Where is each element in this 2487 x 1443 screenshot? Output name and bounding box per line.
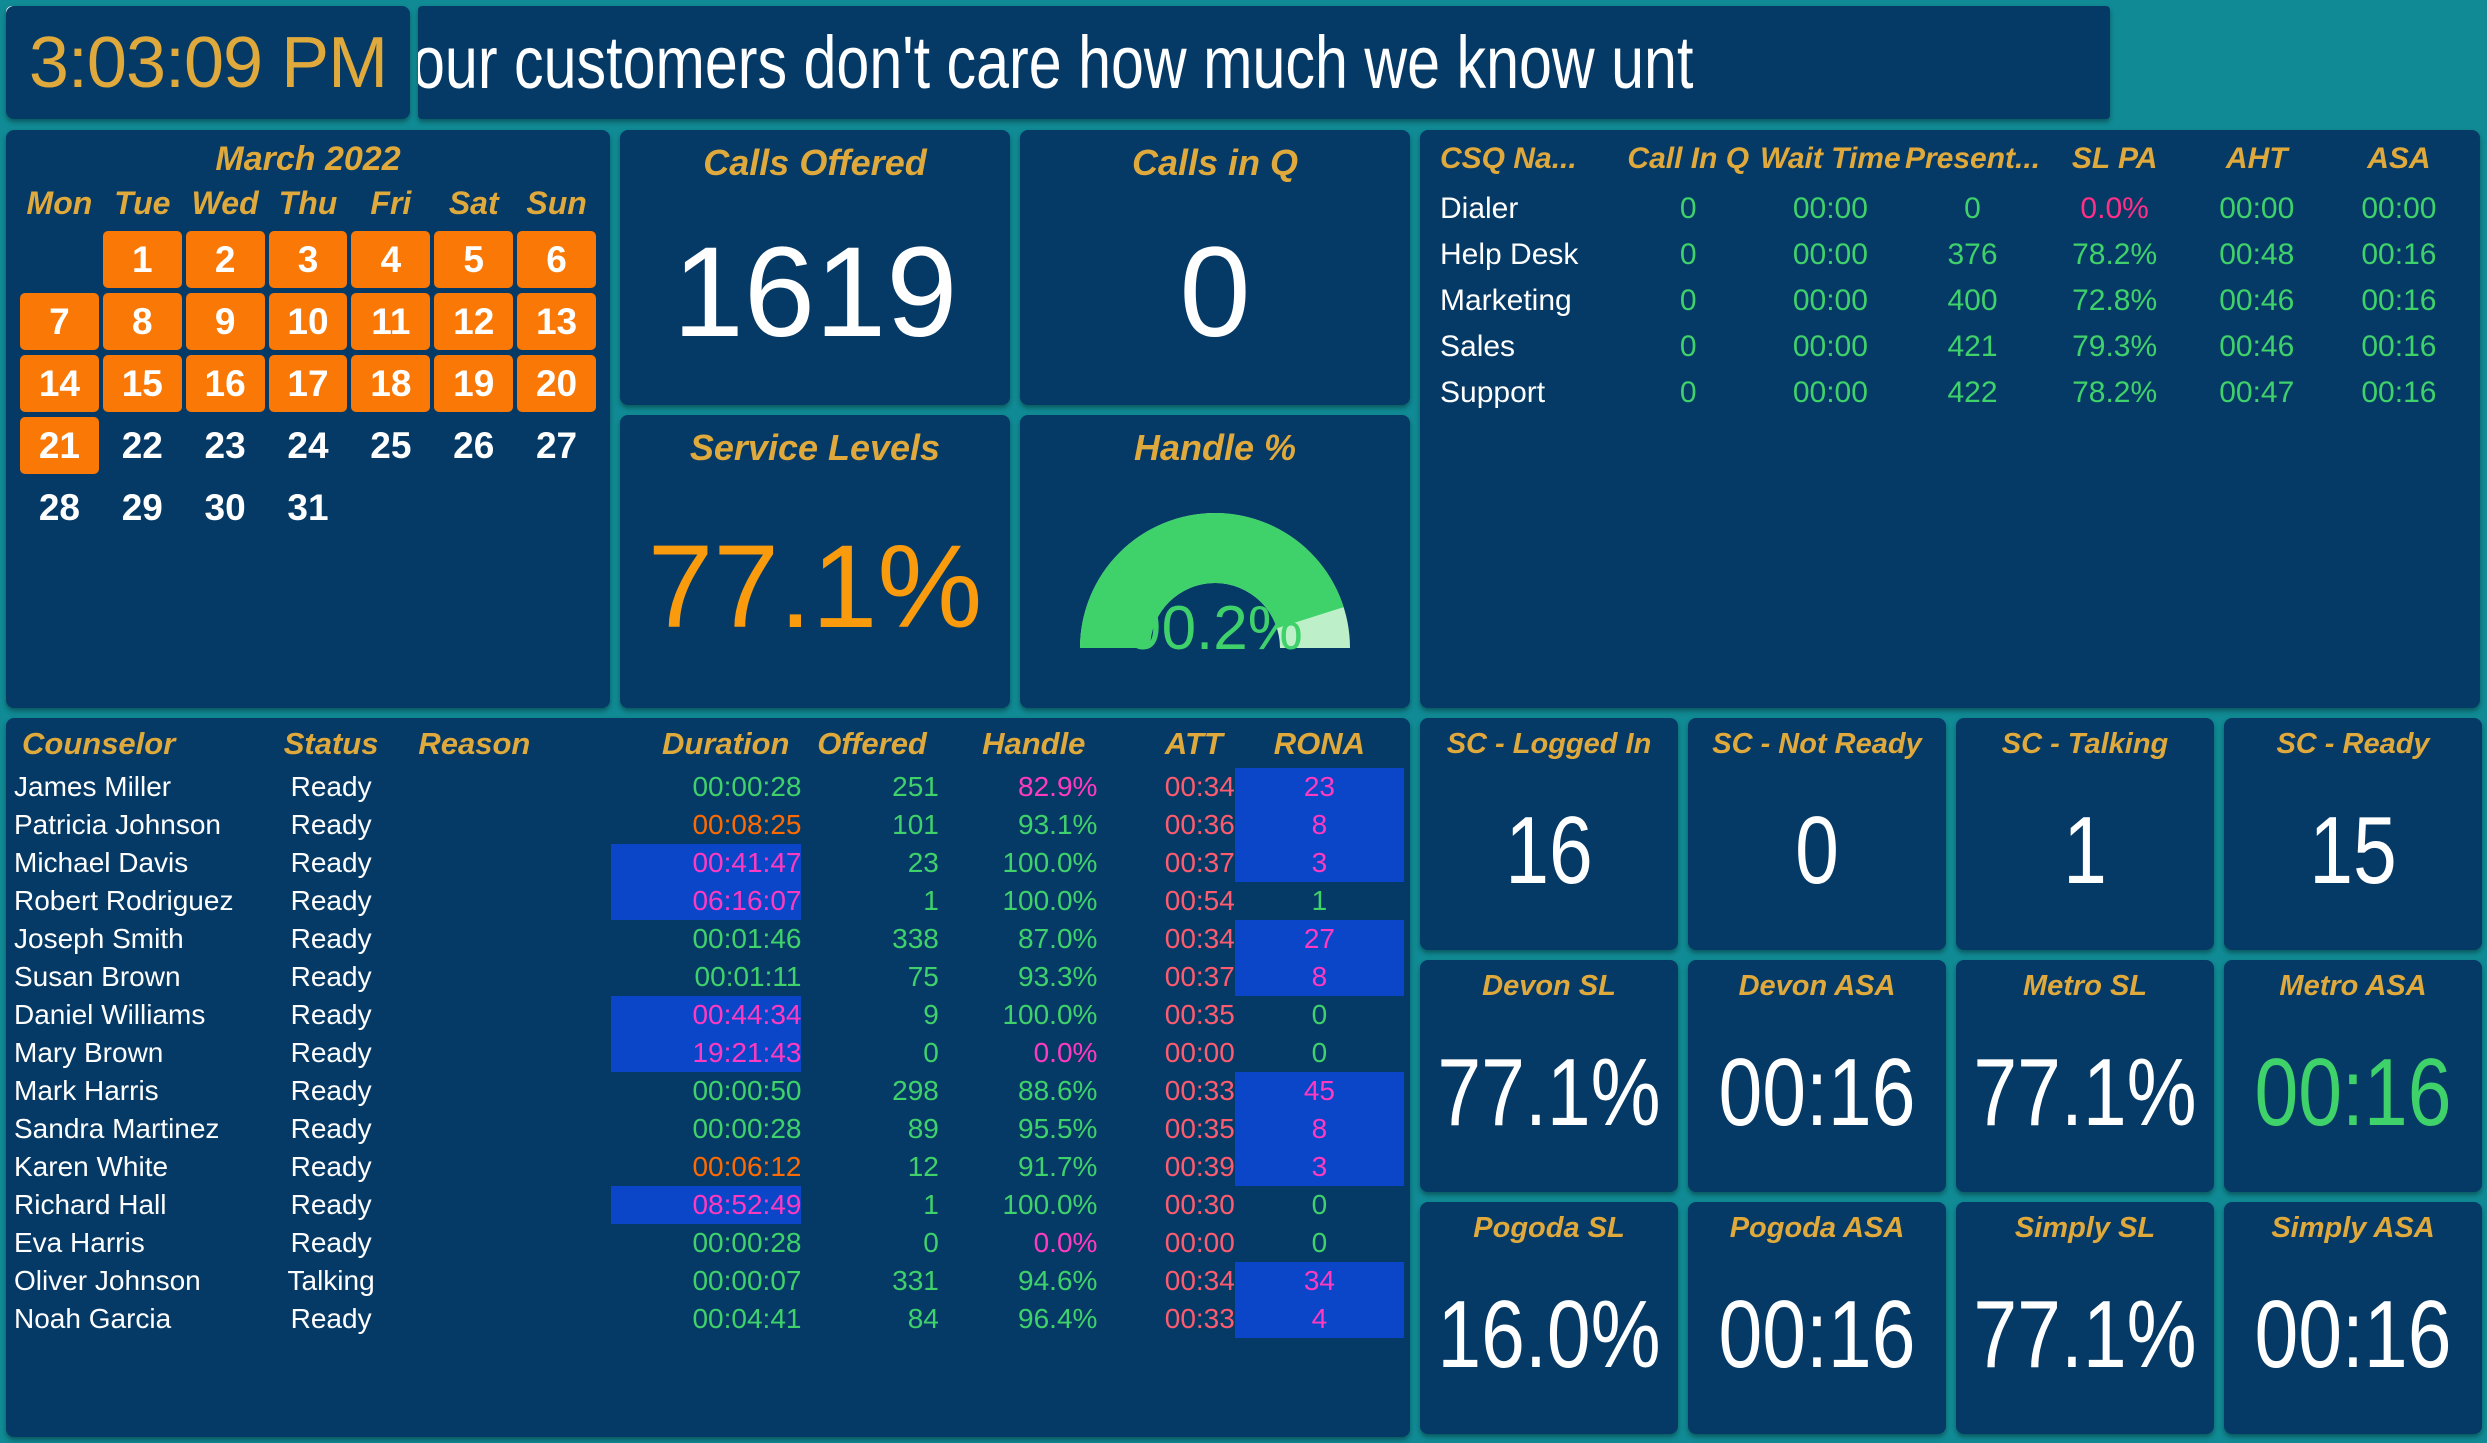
csq-call-in-q: 0 xyxy=(1617,278,1759,324)
csq-wait-time: 00:00 xyxy=(1759,324,1901,370)
counselor-col-header: ATT xyxy=(1097,726,1234,768)
counselor-table-row[interactable]: James MillerReady00:00:2825182.9%00:3423 xyxy=(14,768,1404,806)
mini-tile-simply-asa: Simply ASA00:16 xyxy=(2224,1202,2482,1434)
dashboard-root: 3:03:09 PM our customers don't care how … xyxy=(0,0,2487,1443)
counselor-table-row[interactable]: Patricia JohnsonReady00:08:2510193.1%00:… xyxy=(14,806,1404,844)
counselor-reason xyxy=(410,882,611,920)
counselor-name: Oliver Johnson xyxy=(14,1262,252,1300)
csq-presented: 422 xyxy=(1901,370,2043,416)
csq-presented: 421 xyxy=(1901,324,2043,370)
csq-sl-pa: 78.2% xyxy=(2044,232,2186,278)
calls-offered-title: Calls Offered xyxy=(620,130,1010,184)
counselor-att: 00:37 xyxy=(1097,844,1234,882)
mini-tile-value: 00:16 xyxy=(1711,1003,1923,1183)
counselor-col-header: RONA xyxy=(1235,726,1404,768)
csq-aht: 00:00 xyxy=(2186,186,2328,232)
csq-aht: 00:46 xyxy=(2186,324,2328,370)
mini-tile-value: 15 xyxy=(2247,761,2459,941)
mini-tile-value: 00:16 xyxy=(2247,1003,2459,1183)
counselor-col-header: Offered xyxy=(801,726,938,768)
handle-percent-title: Handle % xyxy=(1020,415,1410,469)
counselor-handle: 0.0% xyxy=(939,1034,1098,1072)
calendar-title: March 2022 xyxy=(20,140,596,179)
csq-wait-time: 00:00 xyxy=(1759,370,1901,416)
counselor-reason xyxy=(410,844,611,882)
mini-tile-title: Devon SL xyxy=(1420,970,1678,1003)
csq-sl-pa: 79.3% xyxy=(2044,324,2186,370)
csq-wait-time: 00:00 xyxy=(1759,186,1901,232)
counselor-offered: 84 xyxy=(801,1300,938,1338)
csq-sl-pa: 78.2% xyxy=(2044,370,2186,416)
mini-tile-value: 77.1% xyxy=(1979,1245,2191,1425)
counselor-name: Mark Harris xyxy=(14,1072,252,1110)
mini-tile-devon-asa: Devon ASA00:16 xyxy=(1688,960,1946,1192)
counselor-name: Patricia Johnson xyxy=(14,806,252,844)
csq-col-header: SL PA xyxy=(2044,142,2186,186)
calendar-day-2[interactable]: 2 xyxy=(186,231,265,288)
calls-in-q-title: Calls in Q xyxy=(1020,130,1410,184)
counselor-offered: 0 xyxy=(801,1224,938,1262)
mini-tile-title: SC - Logged In xyxy=(1420,728,1678,761)
calendar-day-15[interactable]: 15 xyxy=(103,355,182,412)
csq-col-header: AHT xyxy=(2186,142,2328,186)
counselor-offered: 0 xyxy=(801,1034,938,1072)
calls-in-q-tile: Calls in Q 0 xyxy=(1020,130,1410,405)
mini-tile-title: Simply SL xyxy=(1956,1212,2214,1245)
counselor-status: Ready xyxy=(252,1224,411,1262)
counselor-rona: 27 xyxy=(1235,920,1404,958)
csq-col-header: Present... xyxy=(1901,142,2043,186)
counselor-name: Richard Hall xyxy=(14,1186,252,1224)
counselor-handle: 93.1% xyxy=(939,806,1098,844)
calendar-day-25[interactable]: 25 xyxy=(351,417,430,474)
csq-asa: 00:16 xyxy=(2328,278,2470,324)
counselor-name: Robert Rodriguez xyxy=(14,882,252,920)
counselor-table-row[interactable]: Daniel WilliamsReady00:44:349100.0%00:35… xyxy=(14,996,1404,1034)
counselor-name: Mary Brown xyxy=(14,1034,252,1072)
counselor-duration: 00:01:46 xyxy=(611,920,801,958)
mini-tile-devon-sl: Devon SL77.1% xyxy=(1420,960,1678,1192)
csq-col-header: Wait Time xyxy=(1759,142,1901,186)
calendar-day-31[interactable]: 31 xyxy=(269,479,348,536)
calendar-day-29[interactable]: 29 xyxy=(103,479,182,536)
csq-aht: 00:47 xyxy=(2186,370,2328,416)
counselor-status: Ready xyxy=(252,1110,411,1148)
mini-tile-metro-asa: Metro ASA00:16 xyxy=(2224,960,2482,1192)
calendar-day-4[interactable]: 4 xyxy=(351,231,430,288)
counselor-offered: 251 xyxy=(801,768,938,806)
calendar-day-24[interactable]: 24 xyxy=(269,417,348,474)
csq-table-panel: CSQ Na...Call In QWait TimePresent...SL … xyxy=(1420,130,2480,708)
calendar-dow-tue: Tue xyxy=(103,185,182,226)
mini-tile-value: 77.1% xyxy=(1443,1003,1655,1183)
calendar-day-14[interactable]: 14 xyxy=(20,355,99,412)
counselor-status: Talking xyxy=(252,1262,411,1300)
ticker-text: our customers don't care how much we kno… xyxy=(418,20,1693,105)
counselor-reason xyxy=(410,1300,611,1338)
calendar-day-8[interactable]: 8 xyxy=(103,293,182,350)
counselor-handle: 91.7% xyxy=(939,1148,1098,1186)
calendar-day-12[interactable]: 12 xyxy=(434,293,513,350)
mini-tile-value: 1 xyxy=(1979,761,2191,941)
calendar-dow-sat: Sat xyxy=(434,185,513,226)
counselor-duration: 00:00:28 xyxy=(611,768,801,806)
counselor-table-panel: CounselorStatusReasonDurationOfferedHand… xyxy=(6,718,1410,1437)
mini-tile-simply-sl: Simply SL77.1% xyxy=(1956,1202,2214,1434)
mini-tile-pogoda-sl: Pogoda SL16.0% xyxy=(1420,1202,1678,1434)
counselor-rona: 45 xyxy=(1235,1072,1404,1110)
counselor-duration: 00:04:41 xyxy=(611,1300,801,1338)
counselor-att: 00:54 xyxy=(1097,882,1234,920)
csq-wait-time: 00:00 xyxy=(1759,232,1901,278)
counselor-handle: 87.0% xyxy=(939,920,1098,958)
mini-tile-metro-sl: Metro SL77.1% xyxy=(1956,960,2214,1192)
calendar-day-26[interactable]: 26 xyxy=(434,417,513,474)
mini-tile-title: Pogoda SL xyxy=(1420,1212,1678,1245)
counselor-status: Ready xyxy=(252,1148,411,1186)
counselor-handle: 0.0% xyxy=(939,1224,1098,1262)
csq-name: Sales xyxy=(1430,324,1617,370)
counselor-offered: 1 xyxy=(801,1186,938,1224)
csq-table-row[interactable]: Sales000:0042179.3%00:4600:16 xyxy=(1430,324,2470,370)
counselor-table-header-row: CounselorStatusReasonDurationOfferedHand… xyxy=(14,726,1404,768)
counselor-status: Ready xyxy=(252,844,411,882)
calendar-day-18[interactable]: 18 xyxy=(351,355,430,412)
mini-tile-title: SC - Ready xyxy=(2224,728,2482,761)
csq-wait-time: 00:00 xyxy=(1759,278,1901,324)
calendar-day-16[interactable]: 16 xyxy=(186,355,265,412)
csq-table-row[interactable]: Dialer000:0000.0%00:0000:00 xyxy=(1430,186,2470,232)
counselor-duration: 00:00:50 xyxy=(611,1072,801,1110)
mini-tile-title: Pogoda ASA xyxy=(1688,1212,1946,1245)
calendar-dow-wed: Wed xyxy=(186,185,265,226)
counselor-att: 00:34 xyxy=(1097,1262,1234,1300)
counselor-att: 00:30 xyxy=(1097,1186,1234,1224)
counselor-status: Ready xyxy=(252,1034,411,1072)
counselor-duration: 06:16:07 xyxy=(611,882,801,920)
counselor-rona: 3 xyxy=(1235,1148,1404,1186)
calendar-dow-fri: Fri xyxy=(351,185,430,226)
counselor-reason xyxy=(410,1224,611,1262)
counselor-table-row[interactable]: Michael DavisReady00:41:4723100.0%00:373 xyxy=(14,844,1404,882)
counselor-duration: 00:00:07 xyxy=(611,1262,801,1300)
counselor-rona: 23 xyxy=(1235,768,1404,806)
mini-tile-value: 77.1% xyxy=(1979,1003,2191,1183)
clock-panel: 3:03:09 PM xyxy=(6,6,410,119)
counselor-table-row[interactable]: Mark HarrisReady00:00:5029888.6%00:3345 xyxy=(14,1072,1404,1110)
csq-aht: 00:48 xyxy=(2186,232,2328,278)
counselor-duration: 00:00:28 xyxy=(611,1224,801,1262)
mini-tile-title: Simply ASA xyxy=(2224,1212,2482,1245)
calendar-day-1[interactable]: 1 xyxy=(103,231,182,288)
csq-col-header: CSQ Na... xyxy=(1430,142,1617,186)
counselor-offered: 75 xyxy=(801,958,938,996)
counselor-handle: 100.0% xyxy=(939,1186,1098,1224)
counselor-status: Ready xyxy=(252,1186,411,1224)
counselor-att: 00:33 xyxy=(1097,1072,1234,1110)
counselor-att: 00:35 xyxy=(1097,1110,1234,1148)
counselor-offered: 101 xyxy=(801,806,938,844)
counselor-reason xyxy=(410,1034,611,1072)
csq-asa: 00:16 xyxy=(2328,232,2470,278)
mini-tile-title: Devon ASA xyxy=(1688,970,1946,1003)
csq-name: Help Desk xyxy=(1430,232,1617,278)
calendar-day-22[interactable]: 22 xyxy=(103,417,182,474)
calls-offered-tile: Calls Offered 1619 xyxy=(620,130,1010,405)
csq-name: Marketing xyxy=(1430,278,1617,324)
calendar-grid: MonTueWedThuFriSatSun1234567891011121314… xyxy=(20,185,596,536)
counselor-reason xyxy=(410,1072,611,1110)
calendar-day-23[interactable]: 23 xyxy=(186,417,265,474)
counselor-table-row[interactable]: Joseph SmithReady00:01:4633887.0%00:3427 xyxy=(14,920,1404,958)
counselor-reason xyxy=(410,958,611,996)
counselor-handle: 100.0% xyxy=(939,882,1098,920)
counselor-table-row[interactable]: Eva HarrisReady00:00:2800.0%00:000 xyxy=(14,1224,1404,1262)
csq-table: CSQ Na...Call In QWait TimePresent...SL … xyxy=(1430,142,2470,416)
counselor-duration: 08:52:49 xyxy=(611,1186,801,1224)
csq-table-body: Dialer000:0000.0%00:0000:00Help Desk000:… xyxy=(1430,186,2470,416)
clock-text: 3:03:09 PM xyxy=(29,22,387,104)
mini-tile-sc-ready: SC - Ready15 xyxy=(2224,718,2482,950)
counselor-name: Daniel Williams xyxy=(14,996,252,1034)
counselor-handle: 88.6% xyxy=(939,1072,1098,1110)
counselor-table: CounselorStatusReasonDurationOfferedHand… xyxy=(14,726,1404,1338)
calendar-day-21[interactable]: 21 xyxy=(20,417,99,474)
counselor-rona: 0 xyxy=(1235,996,1404,1034)
counselor-offered: 23 xyxy=(801,844,938,882)
counselor-reason xyxy=(410,1262,611,1300)
counselor-table-body: James MillerReady00:00:2825182.9%00:3423… xyxy=(14,768,1404,1338)
counselor-offered: 298 xyxy=(801,1072,938,1110)
counselor-name: Noah Garcia xyxy=(14,1300,252,1338)
counselor-reason xyxy=(410,1186,611,1224)
counselor-offered: 12 xyxy=(801,1148,938,1186)
calendar-dow-mon: Mon xyxy=(20,185,99,226)
csq-sl-pa: 0.0% xyxy=(2044,186,2186,232)
csq-call-in-q: 0 xyxy=(1617,324,1759,370)
counselor-att: 00:39 xyxy=(1097,1148,1234,1186)
mini-tile-title: Metro SL xyxy=(1956,970,2214,1003)
counselor-table-row[interactable]: Richard HallReady08:52:491100.0%00:300 xyxy=(14,1186,1404,1224)
calendar-dow-thu: Thu xyxy=(269,185,348,226)
csq-presented: 400 xyxy=(1901,278,2043,324)
mini-tile-title: SC - Not Ready xyxy=(1688,728,1946,761)
counselor-rona: 8 xyxy=(1235,958,1404,996)
csq-asa: 00:00 xyxy=(2328,186,2470,232)
counselor-name: Sandra Martinez xyxy=(14,1110,252,1148)
calendar-day-11[interactable]: 11 xyxy=(351,293,430,350)
counselor-rona: 8 xyxy=(1235,806,1404,844)
counselor-status: Ready xyxy=(252,882,411,920)
counselor-name: Michael Davis xyxy=(14,844,252,882)
csq-presented: 376 xyxy=(1901,232,2043,278)
counselor-duration: 00:06:12 xyxy=(611,1148,801,1186)
csq-sl-pa: 72.8% xyxy=(2044,278,2186,324)
csq-table-row[interactable]: Support000:0042278.2%00:4700:16 xyxy=(1430,370,2470,416)
csq-presented: 0 xyxy=(1901,186,2043,232)
counselor-duration: 00:00:28 xyxy=(611,1110,801,1148)
mini-tile-sc-not-ready: SC - Not Ready0 xyxy=(1688,718,1946,950)
counselor-table-row[interactable]: Mary BrownReady19:21:4300.0%00:000 xyxy=(14,1034,1404,1072)
calendar-day-13[interactable]: 13 xyxy=(517,293,596,350)
csq-table-row[interactable]: Marketing000:0040072.8%00:4600:16 xyxy=(1430,278,2470,324)
mini-tile-title: Metro ASA xyxy=(2224,970,2482,1003)
counselor-col-header: Handle xyxy=(939,726,1098,768)
counselor-name: James Miller xyxy=(14,768,252,806)
counselor-handle: 96.4% xyxy=(939,1300,1098,1338)
counselor-rona: 1 xyxy=(1235,882,1404,920)
counselor-handle: 100.0% xyxy=(939,844,1098,882)
counselor-handle: 95.5% xyxy=(939,1110,1098,1148)
counselor-status: Ready xyxy=(252,996,411,1034)
calendar-dow-sun: Sun xyxy=(517,185,596,226)
counselor-status: Ready xyxy=(252,1072,411,1110)
calendar-day-9[interactable]: 9 xyxy=(186,293,265,350)
counselor-table-row[interactable]: Robert RodriguezReady06:16:071100.0%00:5… xyxy=(14,882,1404,920)
calendar-day-10[interactable]: 10 xyxy=(269,293,348,350)
counselor-handle: 82.9% xyxy=(939,768,1098,806)
counselor-handle: 93.3% xyxy=(939,958,1098,996)
counselor-att: 00:35 xyxy=(1097,996,1234,1034)
counselor-rona: 0 xyxy=(1235,1034,1404,1072)
csq-call-in-q: 0 xyxy=(1617,232,1759,278)
calls-in-q-value: 0 xyxy=(1020,184,1410,401)
ticker-panel: our customers don't care how much we kno… xyxy=(418,6,2110,119)
counselor-col-header: Reason xyxy=(410,726,611,768)
counselor-duration: 00:44:34 xyxy=(611,996,801,1034)
csq-name: Support xyxy=(1430,370,1617,416)
counselor-att: 00:34 xyxy=(1097,920,1234,958)
counselor-table-row[interactable]: Susan BrownReady00:01:117593.3%00:378 xyxy=(14,958,1404,996)
csq-call-in-q: 0 xyxy=(1617,370,1759,416)
calendar-day-7[interactable]: 7 xyxy=(20,293,99,350)
counselor-name: Joseph Smith xyxy=(14,920,252,958)
calendar-blank-cell xyxy=(20,231,99,288)
csq-asa: 00:16 xyxy=(2328,370,2470,416)
service-levels-value: 77.1% xyxy=(620,469,1010,704)
calendar-day-6[interactable]: 6 xyxy=(517,231,596,288)
calls-offered-value: 1619 xyxy=(620,184,1010,401)
counselor-status: Ready xyxy=(252,958,411,996)
counselor-att: 00:33 xyxy=(1097,1300,1234,1338)
counselor-reason xyxy=(410,1148,611,1186)
calendar-day-20[interactable]: 20 xyxy=(517,355,596,412)
counselor-col-header: Counselor xyxy=(14,726,252,768)
csq-col-header: Call In Q xyxy=(1617,142,1759,186)
csq-asa: 00:16 xyxy=(2328,324,2470,370)
csq-call-in-q: 0 xyxy=(1617,186,1759,232)
counselor-handle: 100.0% xyxy=(939,996,1098,1034)
counselor-status: Ready xyxy=(252,806,411,844)
calendar-day-3[interactable]: 3 xyxy=(269,231,348,288)
counselor-reason xyxy=(410,996,611,1034)
counselor-name: Karen White xyxy=(14,1148,252,1186)
counselor-att: 00:36 xyxy=(1097,806,1234,844)
handle-gauge-value: 90.2% xyxy=(1050,593,1380,664)
counselor-status: Ready xyxy=(252,920,411,958)
counselor-table-row[interactable]: Oliver JohnsonTalking00:00:0733194.6%00:… xyxy=(14,1262,1404,1300)
mini-tile-sc-logged-in: SC - Logged In16 xyxy=(1420,718,1678,950)
counselor-offered: 338 xyxy=(801,920,938,958)
counselor-duration: 19:21:43 xyxy=(611,1034,801,1072)
csq-table-row[interactable]: Help Desk000:0037678.2%00:4800:16 xyxy=(1430,232,2470,278)
counselor-rona: 4 xyxy=(1235,1300,1404,1338)
csq-table-header-row: CSQ Na...Call In QWait TimePresent...SL … xyxy=(1430,142,2470,186)
counselor-reason xyxy=(410,806,611,844)
counselor-att: 00:00 xyxy=(1097,1224,1234,1262)
mini-tile-value: 0 xyxy=(1711,761,1923,941)
counselor-rona: 3 xyxy=(1235,844,1404,882)
counselor-col-header: Duration xyxy=(611,726,801,768)
calendar-day-17[interactable]: 17 xyxy=(269,355,348,412)
calendar-day-5[interactable]: 5 xyxy=(434,231,513,288)
counselor-offered: 9 xyxy=(801,996,938,1034)
mini-tile-value: 16 xyxy=(1443,761,1655,941)
calendar-day-19[interactable]: 19 xyxy=(434,355,513,412)
counselor-status: Ready xyxy=(252,1300,411,1338)
counselor-rona: 0 xyxy=(1235,1186,1404,1224)
counselor-table-row[interactable]: Noah GarciaReady00:04:418496.4%00:334 xyxy=(14,1300,1404,1338)
service-levels-tile: Service Levels 77.1% xyxy=(620,415,1010,708)
counselor-reason xyxy=(410,920,611,958)
calendar-day-27[interactable]: 27 xyxy=(517,417,596,474)
counselor-att: 00:34 xyxy=(1097,768,1234,806)
counselor-table-row[interactable]: Sandra MartinezReady00:00:288995.5%00:35… xyxy=(14,1110,1404,1148)
counselor-name: Susan Brown xyxy=(14,958,252,996)
counselor-rona: 8 xyxy=(1235,1110,1404,1148)
mini-tile-value: 00:16 xyxy=(2247,1245,2459,1425)
handle-percent-tile: Handle % 90.2% xyxy=(1020,415,1410,708)
csq-col-header: ASA xyxy=(2328,142,2470,186)
service-levels-title: Service Levels xyxy=(620,415,1010,469)
mini-tile-title: SC - Talking xyxy=(1956,728,2214,761)
mini-tile-sc-talking: SC - Talking1 xyxy=(1956,718,2214,950)
counselor-att: 00:00 xyxy=(1097,1034,1234,1072)
csq-name: Dialer xyxy=(1430,186,1617,232)
counselor-reason xyxy=(410,768,611,806)
counselor-offered: 1 xyxy=(801,882,938,920)
counselor-duration: 00:01:11 xyxy=(611,958,801,996)
counselor-rona: 0 xyxy=(1235,1224,1404,1262)
calendar-day-28[interactable]: 28 xyxy=(20,479,99,536)
counselor-duration: 00:41:47 xyxy=(611,844,801,882)
counselor-col-header: Status xyxy=(252,726,411,768)
counselor-reason xyxy=(410,1110,611,1148)
counselor-offered: 89 xyxy=(801,1110,938,1148)
counselor-duration: 00:08:25 xyxy=(611,806,801,844)
counselor-table-row[interactable]: Karen WhiteReady00:06:121291.7%00:393 xyxy=(14,1148,1404,1186)
counselor-name: Eva Harris xyxy=(14,1224,252,1262)
counselor-offered: 331 xyxy=(801,1262,938,1300)
calendar-panel: March 2022 MonTueWedThuFriSatSun12345678… xyxy=(6,130,610,708)
mini-tile-pogoda-asa: Pogoda ASA00:16 xyxy=(1688,1202,1946,1434)
counselor-rona: 34 xyxy=(1235,1262,1404,1300)
mini-tile-value: 16.0% xyxy=(1443,1245,1655,1425)
calendar-day-30[interactable]: 30 xyxy=(186,479,265,536)
counselor-handle: 94.6% xyxy=(939,1262,1098,1300)
csq-aht: 00:46 xyxy=(2186,278,2328,324)
mini-tile-value: 00:16 xyxy=(1711,1245,1923,1425)
handle-gauge: 90.2% xyxy=(1050,483,1380,658)
counselor-att: 00:37 xyxy=(1097,958,1234,996)
counselor-status: Ready xyxy=(252,768,411,806)
